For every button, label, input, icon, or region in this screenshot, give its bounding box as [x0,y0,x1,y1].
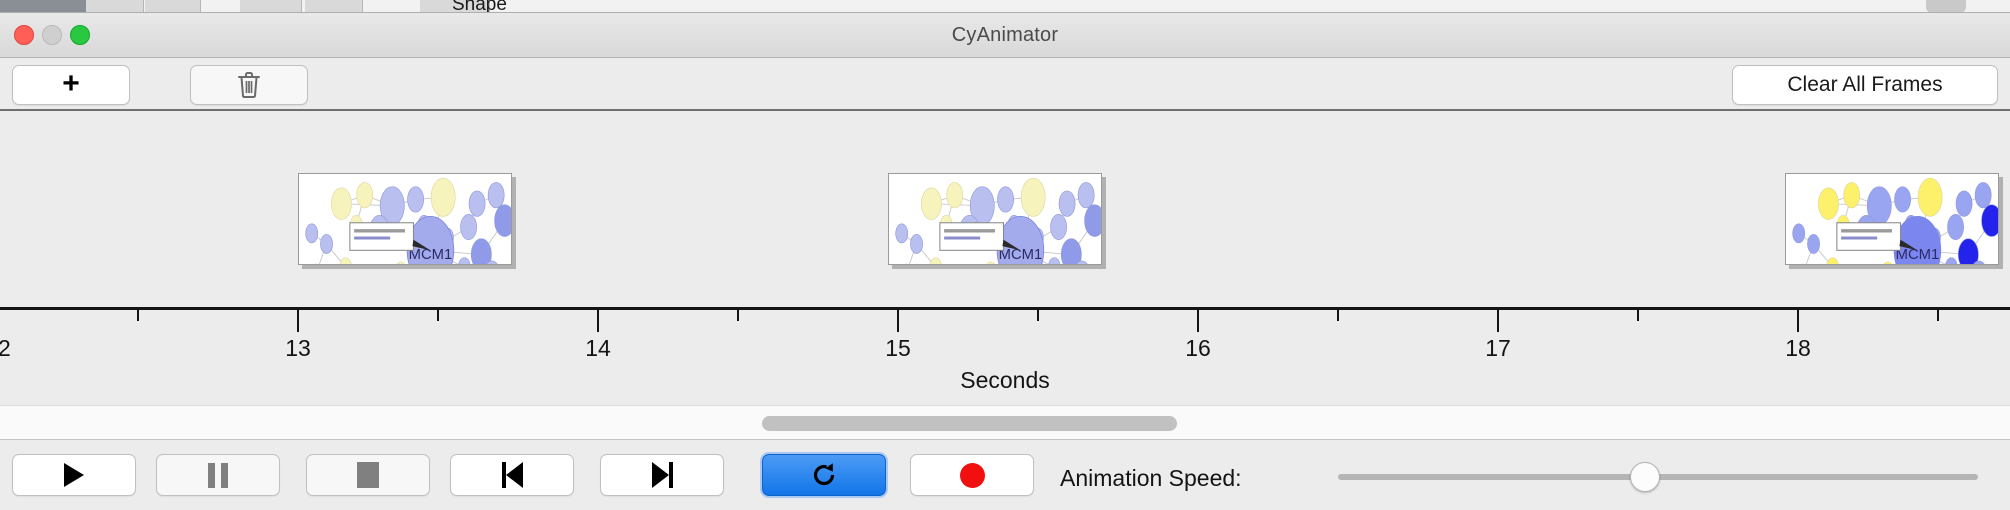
loop-button[interactable] [762,454,886,496]
loop-icon [809,460,839,490]
background-window-strip: Shape [0,0,2010,13]
toolbar: + Clear All Frames [0,58,2010,111]
cyanimator-window: Shape CyAnimator + Clear All Frames [0,0,2010,510]
previous-frame-button[interactable] [450,454,574,496]
animation-speed-slider-thumb[interactable] [1630,462,1660,492]
svg-text:MCM1: MCM1 [409,247,453,263]
timeline-tick-label: 15 [885,335,911,362]
stop-icon [357,462,379,488]
close-icon[interactable] [14,25,34,45]
timeline-panel[interactable]: MCM1MCM1MCM1 12131415161718 Seconds [0,111,2010,405]
page-title: CyAnimator [0,24,2010,47]
timeline-tick-label: 13 [285,335,311,362]
minimize-icon[interactable] [42,25,62,45]
playback-bar: Animation Speed: [0,439,2010,510]
timeline-tick-major [1197,310,1199,332]
timeline-frame-thumbnail[interactable]: MCM1 [298,173,512,265]
clear-all-frames-button[interactable]: Clear All Frames [1732,65,1998,105]
timeline-tick-major [597,310,599,332]
plus-icon: + [62,69,80,99]
record-icon [960,463,985,488]
pause-icon [208,463,228,488]
trash-icon [237,71,261,99]
timeline-tick-major [897,310,899,332]
timeline-frame-thumbnail[interactable]: MCM1 [1785,173,1999,265]
timeline-scrollbar-thumb[interactable] [762,416,1177,431]
animation-speed-slider[interactable] [1338,474,1978,480]
timeline-tick-label: 18 [1785,335,1811,362]
timeline-tick-major [1797,310,1799,332]
network-thumbnail-graphic: MCM1 [1786,174,1998,265]
timeline-tick-minor [1337,310,1339,321]
svg-text:MCM1: MCM1 [1896,247,1940,263]
next-frame-button[interactable] [600,454,724,496]
add-frame-button[interactable]: + [12,65,130,105]
timeline-tick-label: 14 [585,335,611,362]
network-thumbnail-graphic: MCM1 [299,174,511,265]
maximize-icon[interactable] [70,25,90,45]
skip-forward-icon [652,462,673,488]
timeline-tick-major [1497,310,1499,332]
svg-text:MCM1: MCM1 [999,247,1043,263]
timeline-axis-line [0,307,2010,310]
timeline-tick-minor [437,310,439,321]
play-button[interactable] [12,454,136,496]
animation-speed-label: Animation Speed: [1060,465,1242,492]
timeline-scrollbar[interactable] [0,405,2010,439]
stop-button[interactable] [306,454,430,496]
timeline-tick-minor [1637,310,1639,321]
timeline-tick-major [297,310,299,332]
skip-back-icon [502,462,523,488]
window-controls [14,25,90,45]
timeline-tick-minor [1937,310,1939,321]
play-icon [64,463,84,487]
clear-all-frames-label: Clear All Frames [1787,73,1942,97]
timeline-frame-thumbnail[interactable]: MCM1 [888,173,1102,265]
timeline-tick-label: 12 [0,335,11,362]
timeline-tick-minor [737,310,739,321]
timeline-tick-minor [1037,310,1039,321]
timeline-tick-label: 17 [1485,335,1511,362]
delete-frame-button[interactable] [190,65,308,105]
pause-button[interactable] [156,454,280,496]
record-button[interactable] [910,454,1034,496]
network-thumbnail-graphic: MCM1 [889,174,1101,265]
timeline-tick-minor [137,310,139,321]
axis-title: Seconds [0,367,2010,394]
title-bar: CyAnimator [0,13,2010,58]
timeline-tick-label: 16 [1185,335,1211,362]
